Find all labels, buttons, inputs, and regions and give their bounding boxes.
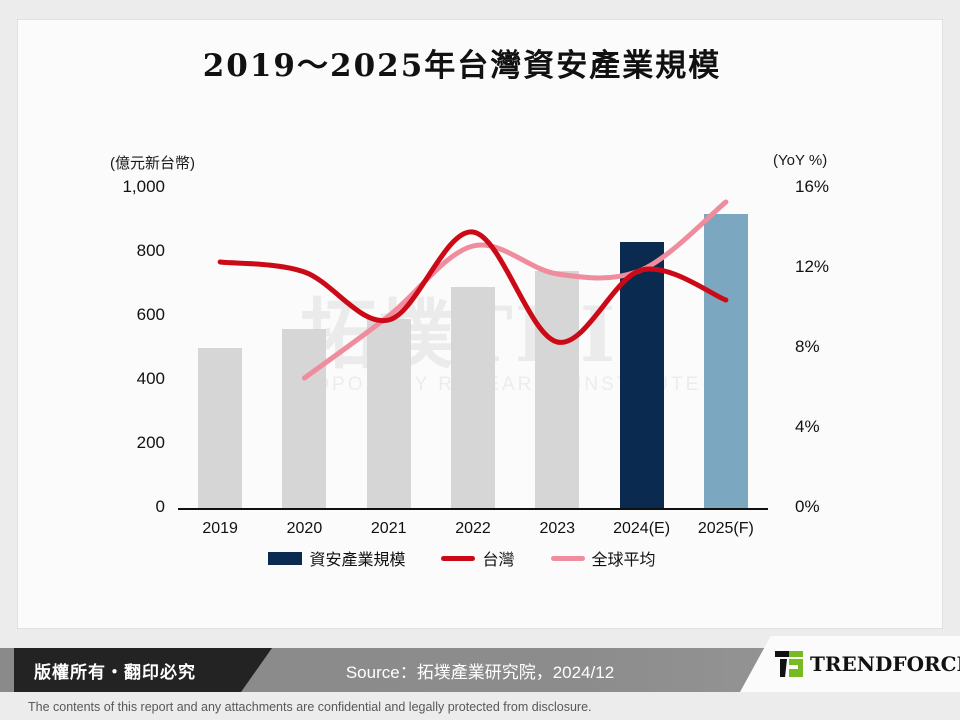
x-tick-label-2025(F): 2025(F) [676,520,776,538]
legend-swatch-bar-icon [268,552,302,565]
legend-swatch-taiwan-icon [441,556,475,561]
slide-root: 2019～2025年台灣資安產業規模 拓墣TRI TOPOLOGY RESEAR… [0,0,960,720]
trendforce-mark-icon [774,651,804,677]
legend-label-taiwan: 台灣 [482,546,514,570]
legend-label-bar: 資安產業規模 [309,546,405,570]
x-axis-line [178,508,768,510]
legend-label-global: 全球平均 [592,546,656,570]
legend-item-taiwan: 台灣 [441,546,514,570]
slide-footer: Source：拓墣產業研究院，2024/12 版權所有・翻印必究 TRENDFO… [0,648,960,696]
legend-item-global: 全球平均 [551,546,656,570]
chart-plot: (億元新台幣) (YoY %) 02004006008001,000 0%4%8… [0,0,960,720]
legend-item-bar: 資安產業規模 [268,546,405,570]
footer-copyright: 版權所有・翻印必究 [14,648,272,692]
chart-legend: 資安產業規模 台灣 全球平均 [0,546,924,570]
confidentiality-disclaimer: The contents of this report and any atta… [28,700,592,714]
line-series-svg [0,0,960,720]
trendforce-wordmark: TRENDFORCE [810,652,960,676]
trendforce-logo: TRENDFORCE [740,636,960,692]
legend-swatch-global-icon [551,556,585,561]
